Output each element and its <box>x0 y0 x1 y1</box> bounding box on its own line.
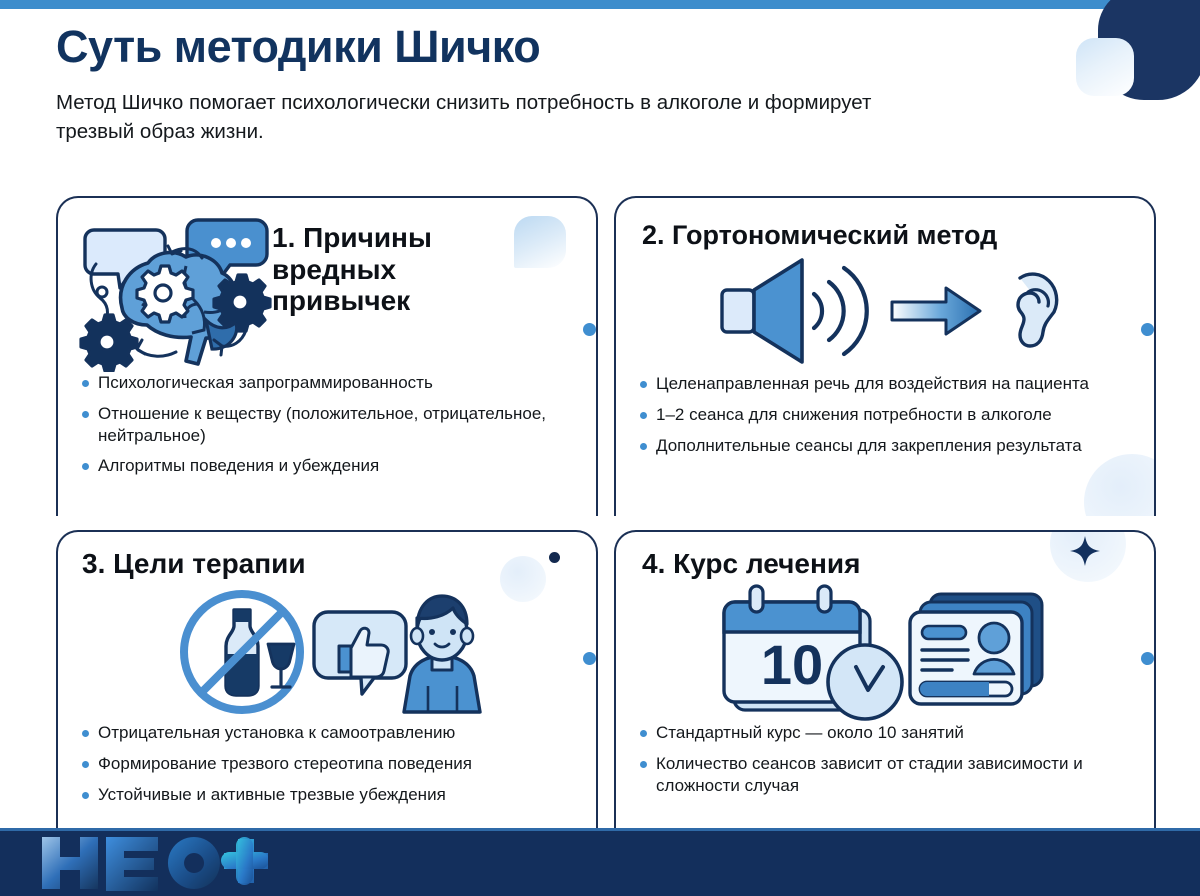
bullet-text: Отношение к веществу (положительное, отр… <box>98 403 578 447</box>
list-item: Алгоритмы поведения и убеждения <box>82 455 578 477</box>
bullet-dot <box>82 792 89 799</box>
card-bullet-list: Психологическая запрограммированность От… <box>82 372 578 486</box>
footer-top-line <box>0 828 1200 831</box>
bullet-dot <box>82 761 89 768</box>
bullet-text: Формирование трезвого стереотипа поведен… <box>98 753 472 775</box>
card-bullet-list: Стандартный курс — около 10 занятий Коли… <box>640 722 1136 805</box>
list-item: Стандартный курс — около 10 занятий <box>640 722 1136 744</box>
edge-accent-dot <box>583 323 596 336</box>
list-item: Устойчивые и активные трезвые убеждения <box>82 784 578 806</box>
brand-logo <box>38 835 268 887</box>
card-heading: 1. Причины вредных привычек <box>272 222 522 317</box>
list-item: Формирование трезвого стереотипа поведен… <box>82 753 578 775</box>
bullet-dot <box>82 411 89 418</box>
bullet-text: Целенаправленная речь для воздействия на… <box>656 373 1089 395</box>
card-gortonomic-method[interactable]: 2. Гортономический метод <box>614 196 1156 516</box>
calendar-clock-idcards-icon: 10 <box>706 582 1056 722</box>
top-accent-bar <box>0 0 1200 9</box>
bullet-text: Алгоритмы поведения и убеждения <box>98 455 379 477</box>
bullet-text: Стандартный курс — около 10 занятий <box>656 722 964 744</box>
list-item: Отрицательная установка к самоотравлению <box>82 722 578 744</box>
card-heading: 4. Курс лечения <box>642 548 860 580</box>
corner-light-square <box>1076 38 1134 96</box>
brain-gears-speech-icon <box>76 212 286 372</box>
edge-accent-dot <box>1141 652 1154 665</box>
bullet-dot <box>82 730 89 737</box>
card-bullet-list: Отрицательная установка к самоотравлению… <box>82 722 578 814</box>
circle-decoration <box>500 556 546 602</box>
bullet-dot <box>82 463 89 470</box>
bullet-dot <box>640 381 647 388</box>
list-item: Отношение к веществу (положительное, отр… <box>82 403 578 447</box>
no-alcohol-thumbsup-person-icon <box>176 588 506 718</box>
card-therapy-goals[interactable]: 3. Цели терапии <box>56 530 598 830</box>
bullet-text: Устойчивые и активные трезвые убеждения <box>98 784 446 806</box>
edge-accent-dot <box>583 652 596 665</box>
list-item: 1–2 сеанса для снижения потребности в ал… <box>640 404 1136 426</box>
bullet-text: Количество сеансов зависит от стадии зав… <box>656 753 1136 797</box>
bullet-dot <box>82 380 89 387</box>
bullet-dot <box>640 761 647 768</box>
bullet-dot <box>640 730 647 737</box>
bullet-dot <box>640 412 647 419</box>
card-bullet-list: Целенаправленная речь для воздействия на… <box>640 373 1136 465</box>
list-item: Целенаправленная речь для воздействия на… <box>640 373 1136 395</box>
edge-accent-dot <box>1141 323 1154 336</box>
bullet-text: Отрицательная установка к самоотравлению <box>98 722 455 744</box>
page-subtitle: Метод Шичко помогает психологически сниз… <box>56 88 886 146</box>
card-heading: 3. Цели терапии <box>82 548 306 580</box>
bullet-dot <box>640 443 647 450</box>
list-item: Количество сеансов зависит от стадии зав… <box>640 753 1136 797</box>
bullet-text: Дополнительные сеансы для закрепления ре… <box>656 435 1082 457</box>
speaker-arrow-ear-icon <box>714 258 1074 368</box>
footer <box>0 828 1200 896</box>
page-title: Суть методики Шичко <box>56 22 1056 72</box>
card-heading: 2. Гортономический метод <box>642 220 997 251</box>
bullet-text: 1–2 сеанса для снижения потребности в ал… <box>656 404 1052 426</box>
sparkle-icon <box>1070 536 1100 571</box>
card-causes[interactable]: 1. Причины вредных привычек Психологичес… <box>56 196 598 516</box>
calendar-number: 10 <box>761 633 823 696</box>
list-item: Психологическая запрограммированность <box>82 372 578 394</box>
list-item: Дополнительные сеансы для закрепления ре… <box>640 435 1136 457</box>
navy-dot-decoration <box>549 552 560 563</box>
card-treatment-course[interactable]: 4. Курс лечения 10 <box>614 530 1156 830</box>
header: Суть методики Шичко Метод Шичко помогает… <box>56 22 1056 146</box>
bullet-text: Психологическая запрограммированность <box>98 372 433 394</box>
